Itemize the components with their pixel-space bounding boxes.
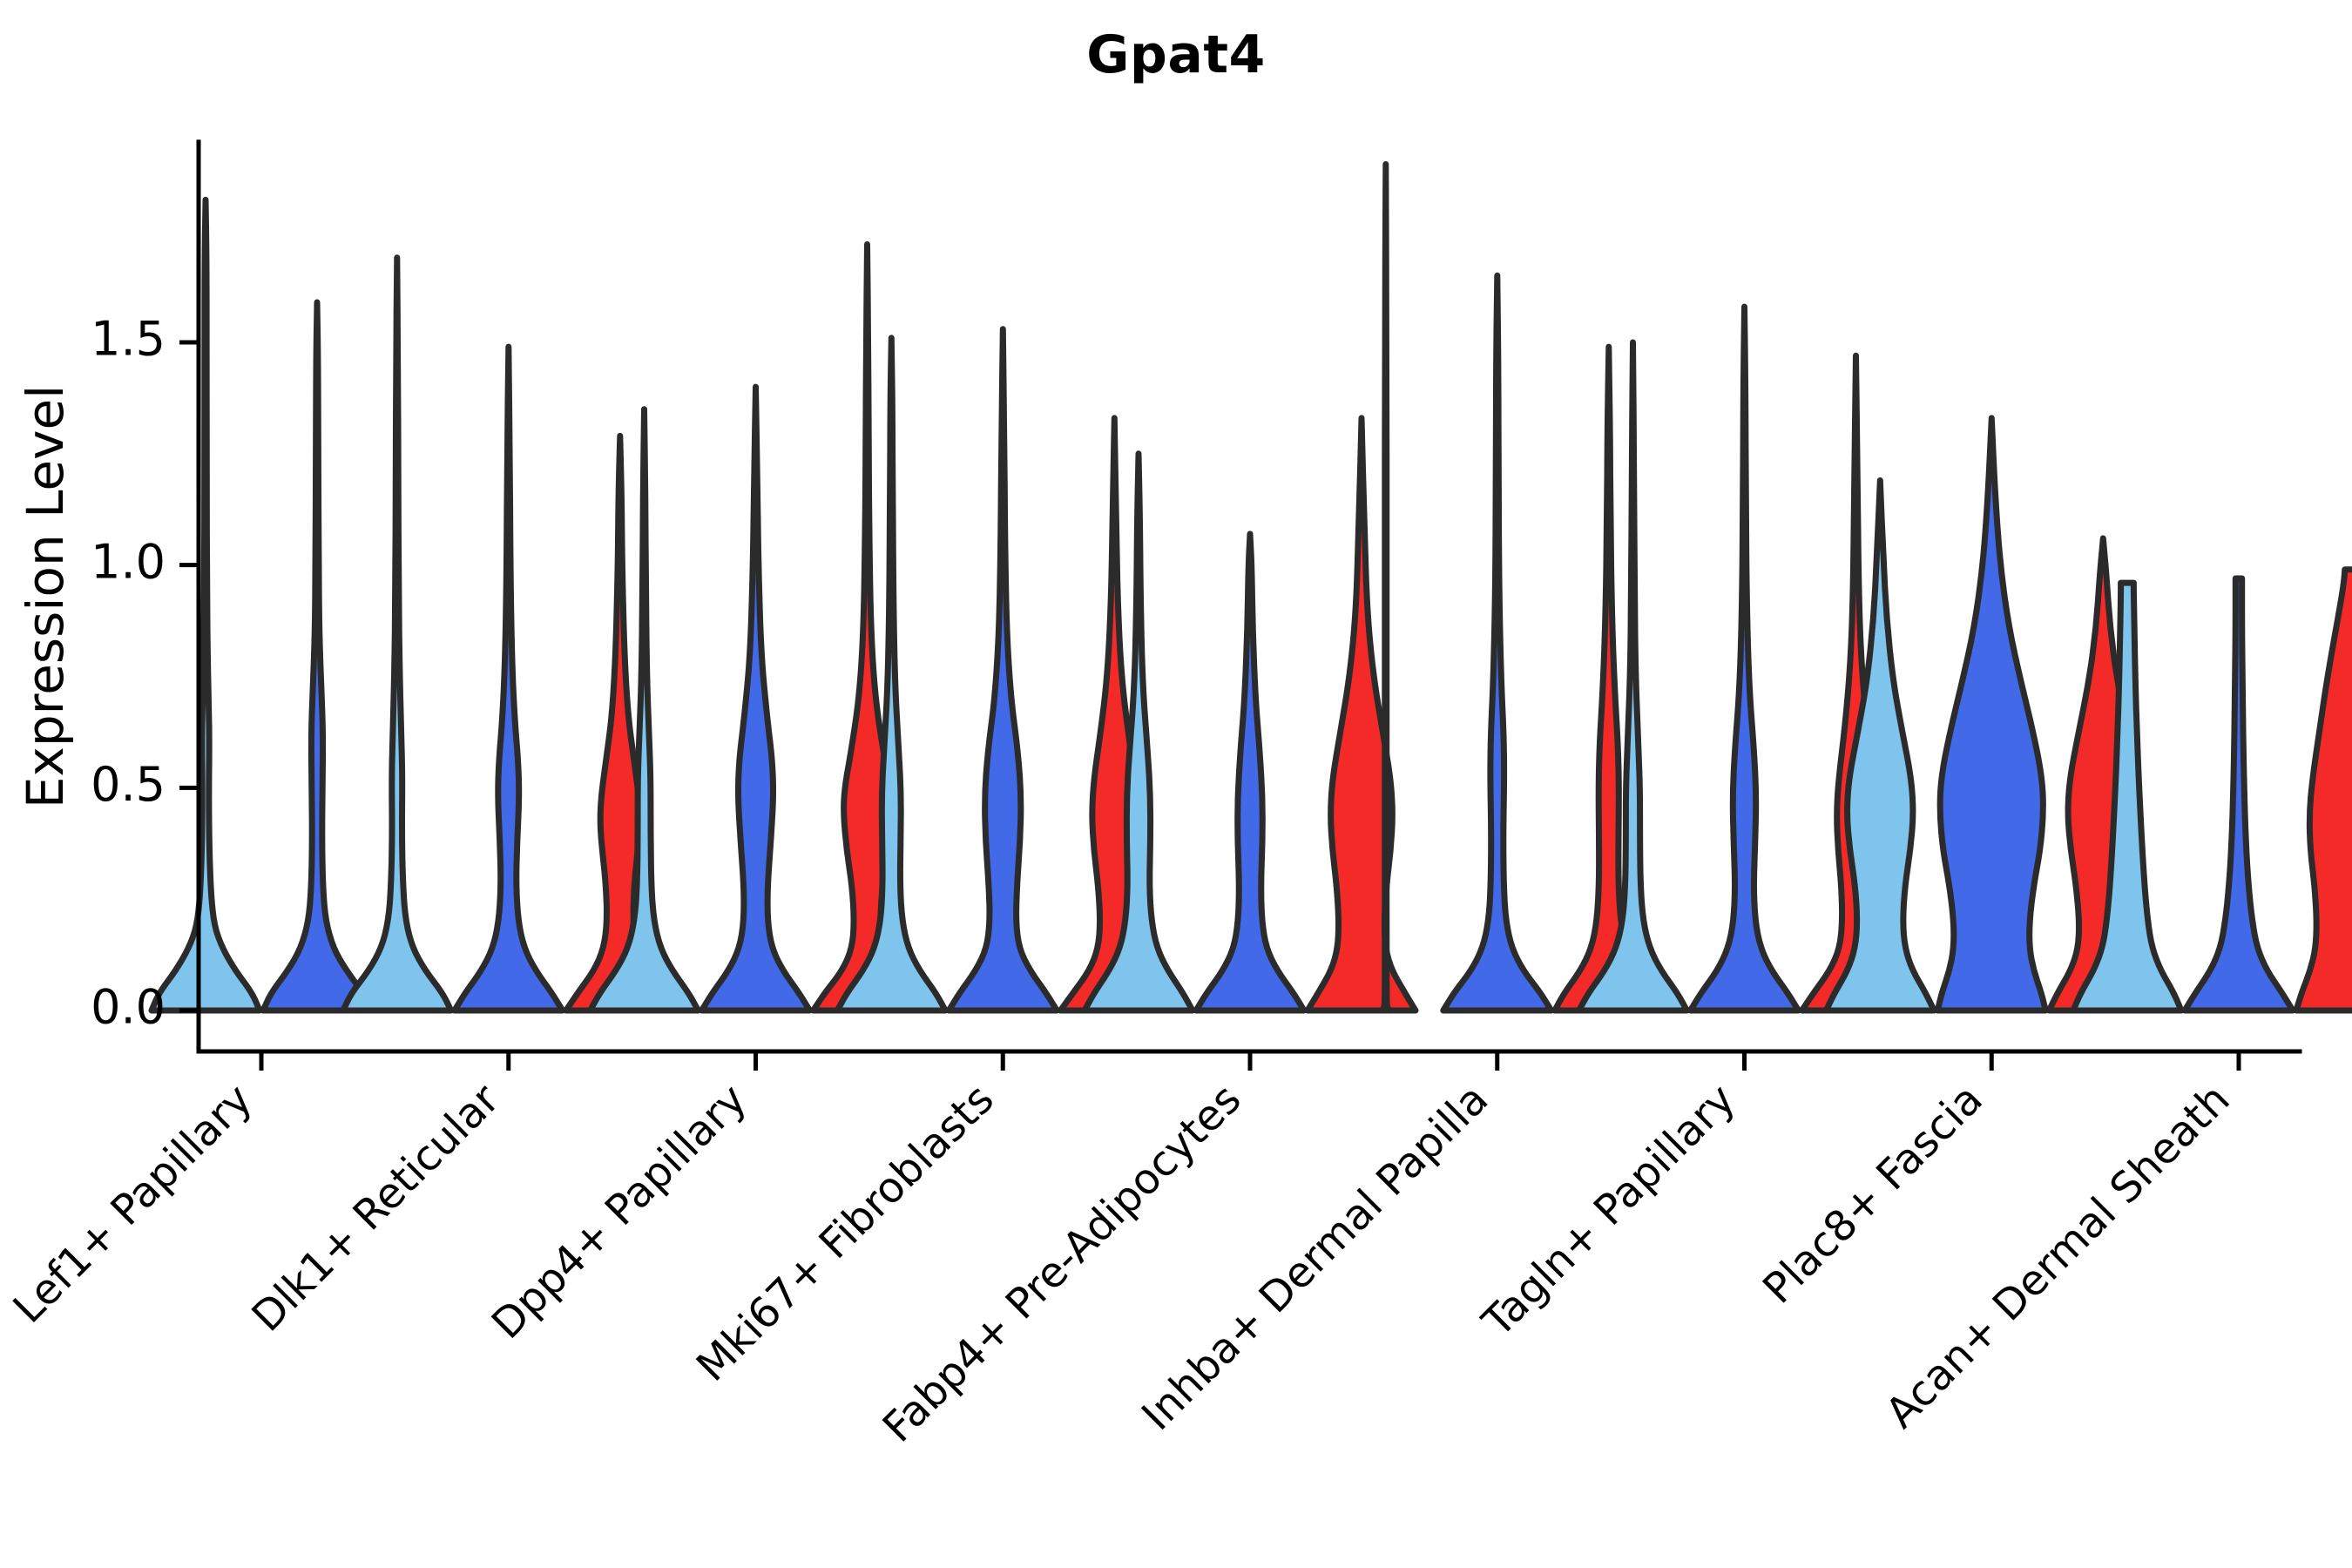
y-tick-label: 0.0 [91, 980, 166, 1035]
violin-light-blue [343, 258, 451, 1010]
x-axis-labels: Lef1+ PapillaryDlk1+ ReticularDpp4+ Papi… [4, 1075, 2240, 1452]
x-tick-label: Lef1+ Papillary [4, 1075, 262, 1333]
violin-red [814, 245, 922, 1011]
y-axis-title: Expression Level [16, 385, 75, 808]
violins-layer [152, 165, 2352, 1011]
x-tick-label: Tagln+ Papillary [1473, 1075, 1745, 1347]
violin-dark-blue [263, 302, 371, 1010]
y-axis-labels: 0.00.51.01.5Expression Level [16, 312, 166, 1035]
violin-dark-blue [702, 387, 810, 1010]
violin-dark-blue [2185, 578, 2293, 1010]
violin-red [2296, 570, 2352, 1010]
violin-dark-blue [949, 329, 1057, 1010]
violin-dark-blue [1937, 418, 2045, 1010]
y-tick-label: 1.5 [91, 312, 166, 367]
x-tick-label: Dlk1+ Reticular [243, 1075, 510, 1342]
y-tick-label: 1.0 [91, 534, 166, 589]
violin-dark-blue [1196, 534, 1304, 1010]
x-tick-label: Plac8+ Fascia [1754, 1075, 1992, 1314]
violin-dark-blue [455, 347, 563, 1010]
violin-red [1555, 347, 1663, 1010]
violin-light-blue [1382, 165, 1389, 1011]
x-tick-label: Dpp4+ Papillary [483, 1075, 756, 1348]
violin-plot-page: Gpat4 0.00.51.01.5Expression Level Lef1+… [0, 0, 2352, 1568]
y-tick-label: 0.5 [91, 757, 166, 812]
violin-red [1308, 418, 1416, 1010]
violin-dark-blue [1691, 307, 1799, 1010]
violin-dark-blue [1443, 275, 1551, 1010]
violin-light-blue [152, 199, 260, 1010]
violin-chart: 0.00.51.01.5Expression Level Lef1+ Papil… [0, 0, 2352, 1568]
